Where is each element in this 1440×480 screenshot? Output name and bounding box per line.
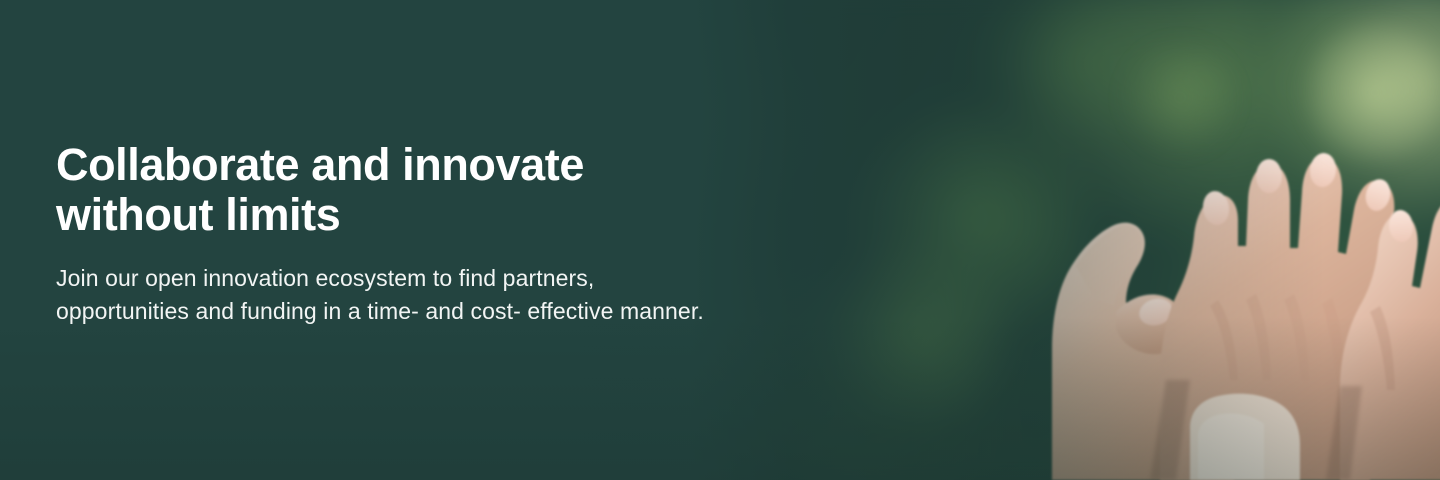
hero-content: Collaborate and innovate without limits … bbox=[56, 140, 856, 328]
hero-subheadline: Join our open innovation ecosystem to fi… bbox=[56, 262, 856, 328]
hero-banner: Collaborate and innovate without limits … bbox=[0, 0, 1440, 480]
hero-headline: Collaborate and innovate without limits bbox=[56, 140, 856, 240]
